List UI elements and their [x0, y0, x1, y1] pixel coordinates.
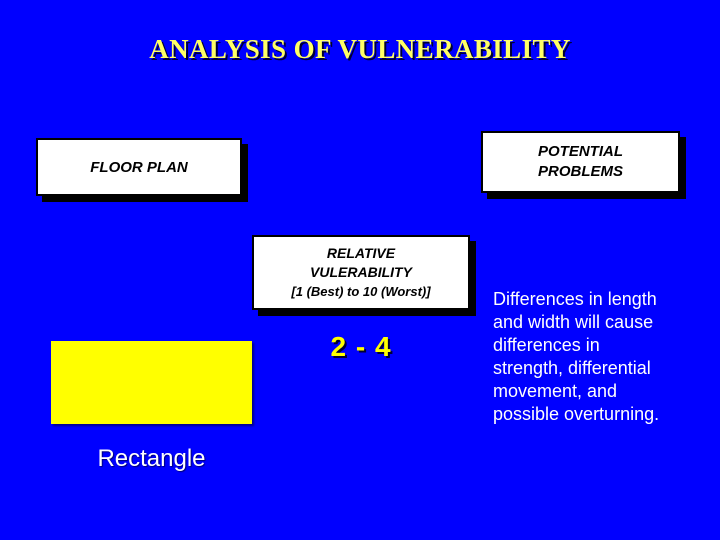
potential-problems-line-1: POTENTIAL: [538, 142, 623, 162]
floor-plan-rectangle-shape: [51, 341, 252, 424]
relative-vulnerability-label: RELATIVE VULERABILITY [1 (Best) to 10 (W…: [291, 244, 430, 301]
slide-canvas: ANALYSIS OF VULNERABILITY FLOOR PLAN POT…: [0, 0, 720, 540]
description-line-2: and width will cause: [493, 311, 693, 334]
potential-problems-box[interactable]: POTENTIAL PROBLEMS: [481, 131, 680, 193]
description-line-1: Differences in length: [493, 288, 693, 311]
floor-plan-label: FLOOR PLAN: [90, 159, 188, 176]
relative-vulnerability-scale: [1 (Best) to 10 (Worst)]: [291, 282, 430, 301]
floor-plan-box[interactable]: FLOOR PLAN: [36, 138, 242, 196]
page-title: ANALYSIS OF VULNERABILITY: [0, 34, 720, 65]
vulnerability-score: 2 - 4: [252, 331, 470, 363]
problem-description: Differences in length and width will cau…: [493, 288, 693, 426]
relative-vulnerability-line-2: VULERABILITY: [291, 263, 430, 282]
potential-problems-label: POTENTIAL PROBLEMS: [538, 142, 623, 182]
relative-vulnerability-line-1: RELATIVE: [291, 244, 430, 263]
description-line-6: possible overturning.: [493, 403, 693, 426]
relative-vulnerability-box[interactable]: RELATIVE VULERABILITY [1 (Best) to 10 (W…: [252, 235, 470, 310]
description-line-4: strength, differential: [493, 357, 693, 380]
shape-name-label: Rectangle: [51, 445, 252, 473]
description-line-5: movement, and: [493, 380, 693, 403]
description-line-3: differences in: [493, 334, 693, 357]
potential-problems-line-2: PROBLEMS: [538, 162, 623, 182]
